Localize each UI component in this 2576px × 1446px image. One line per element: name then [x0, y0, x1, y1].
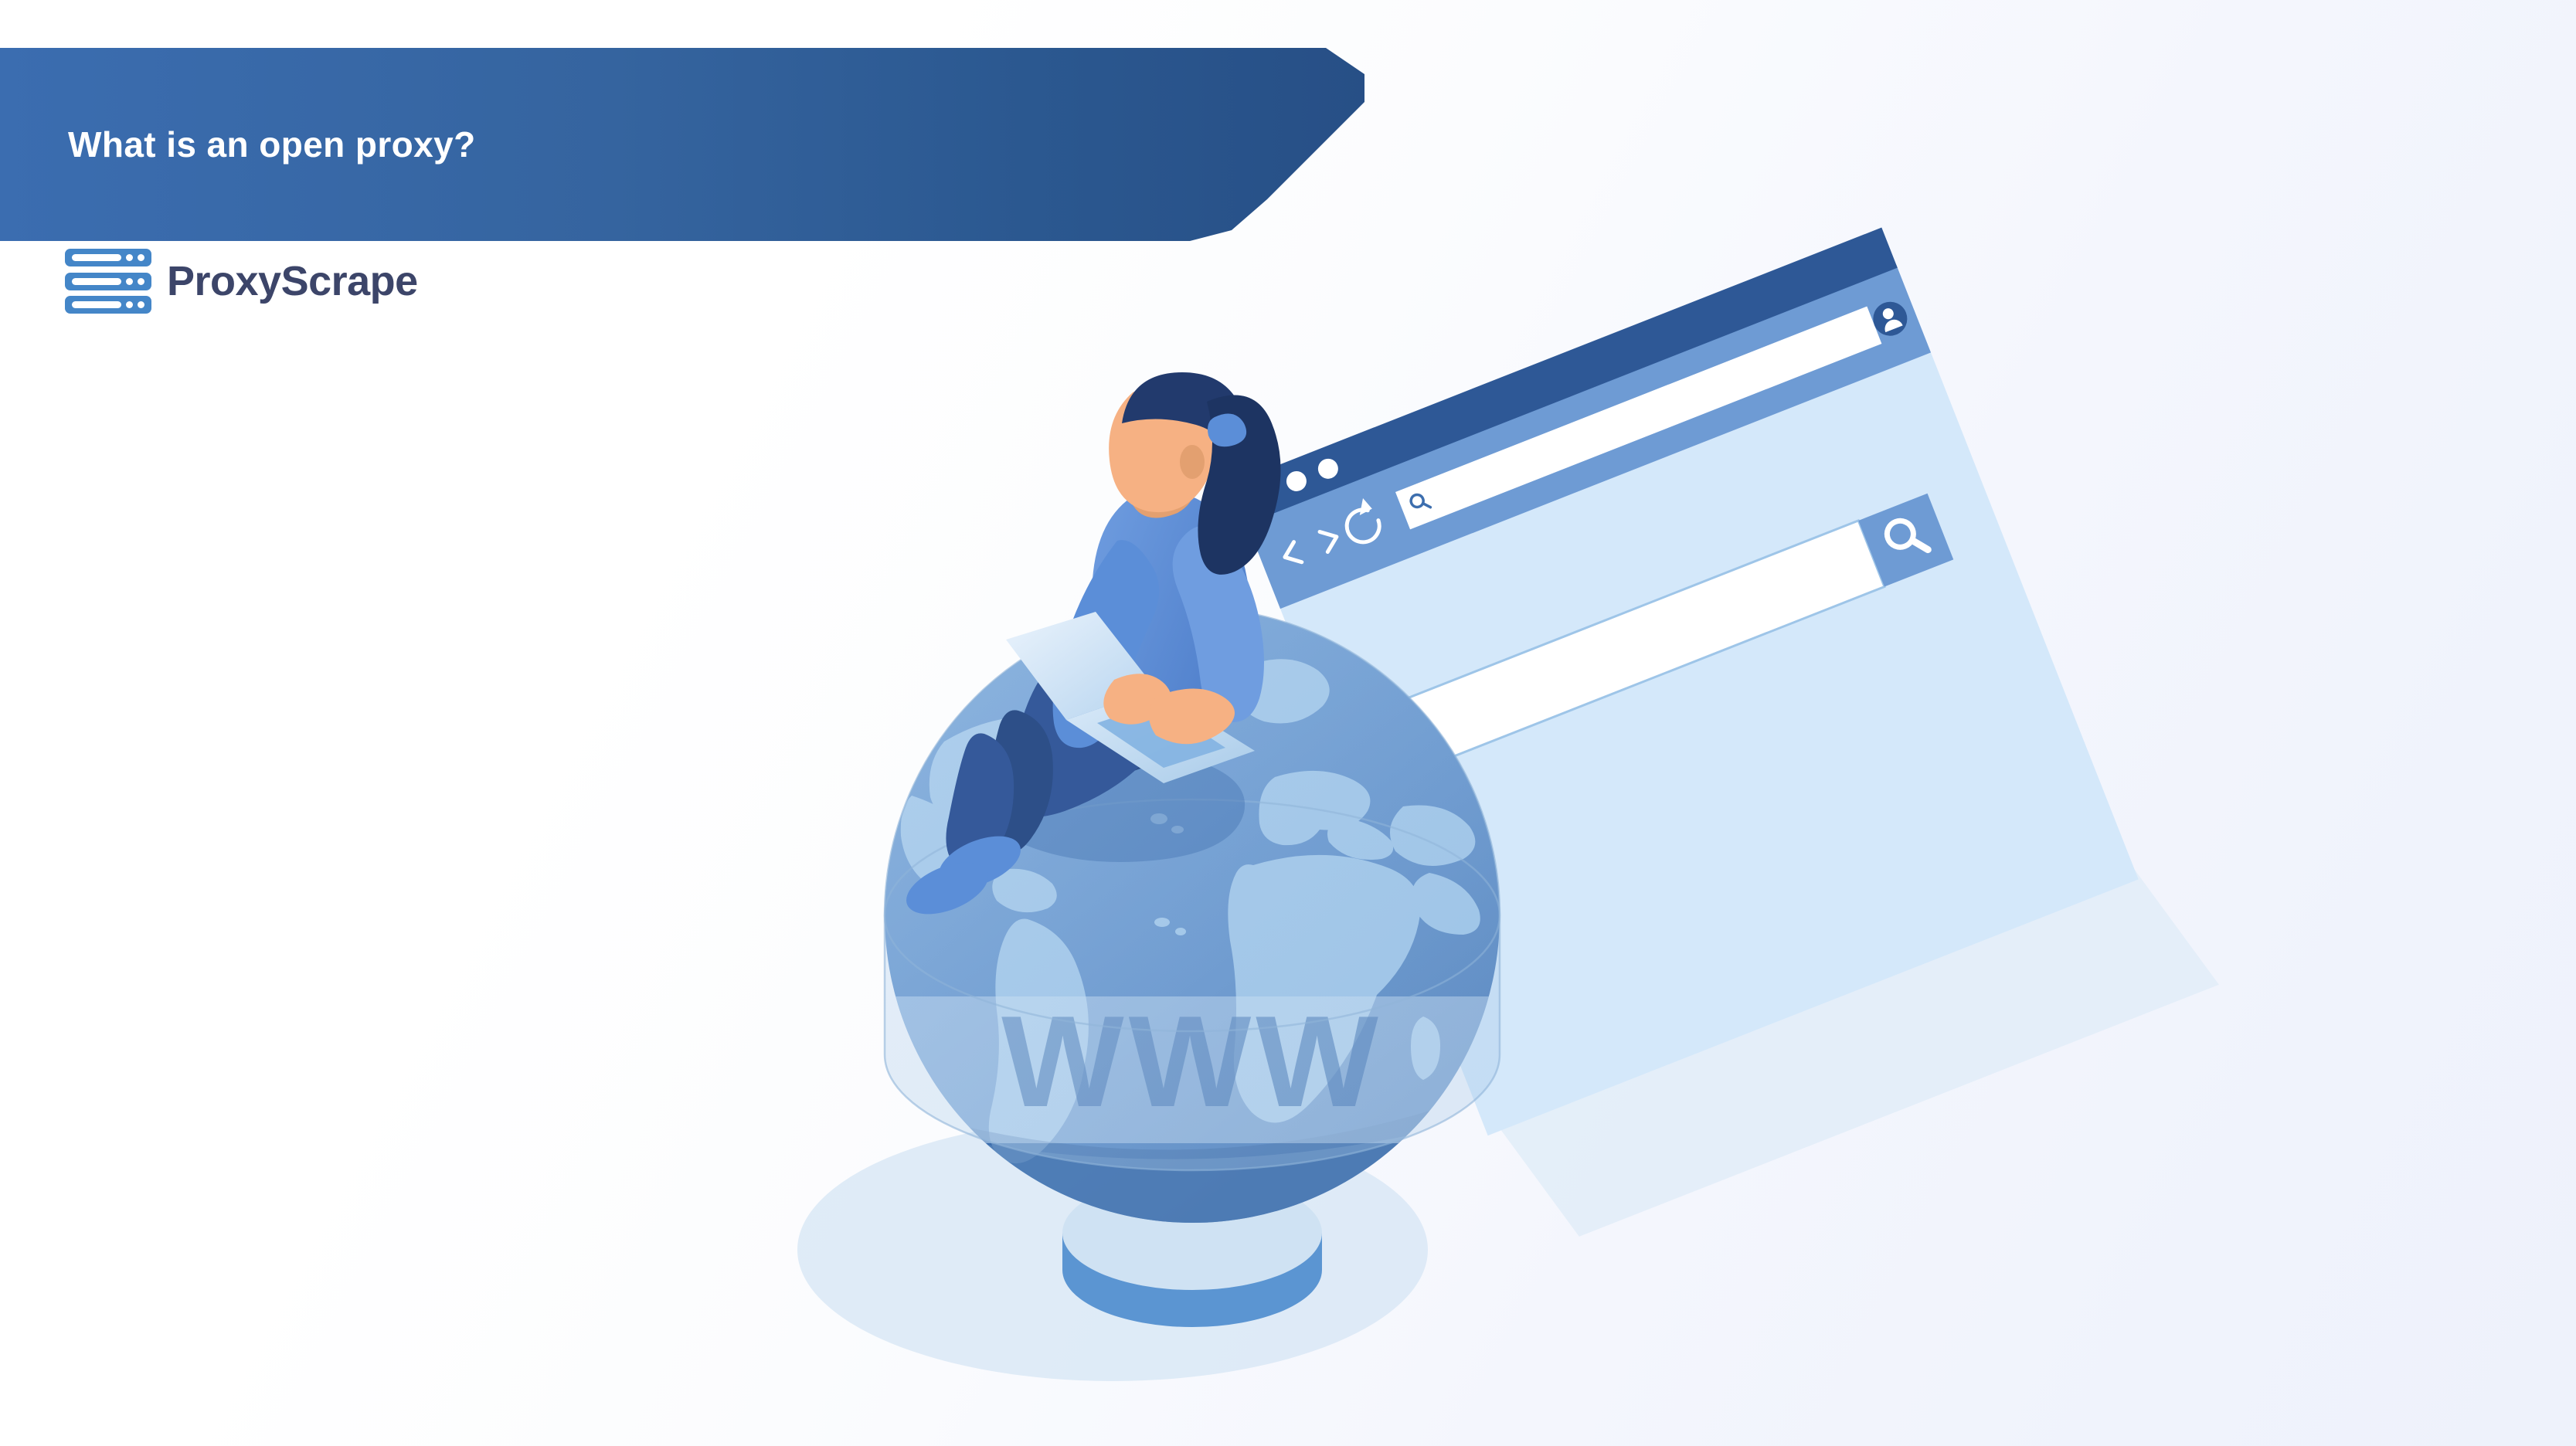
brand-logo[interactable]: ProxyScrape	[65, 249, 418, 314]
rack-row	[65, 296, 151, 314]
rack-row	[65, 273, 151, 290]
rack-dot	[138, 254, 144, 261]
page-title: What is an open proxy?	[68, 124, 476, 165]
rack-dot	[126, 301, 133, 308]
rack-bar	[72, 254, 121, 261]
rack-bar	[72, 301, 121, 308]
rack-dot	[138, 301, 144, 308]
rack-row	[65, 249, 151, 266]
rack-dot	[138, 278, 144, 285]
rack-dot	[126, 278, 133, 285]
server-rack-icon	[65, 249, 151, 314]
rack-bar	[72, 278, 121, 285]
brand-name: ProxyScrape	[167, 260, 418, 302]
rack-dot	[126, 254, 133, 261]
header-banner: What is an open proxy?	[0, 48, 1368, 241]
